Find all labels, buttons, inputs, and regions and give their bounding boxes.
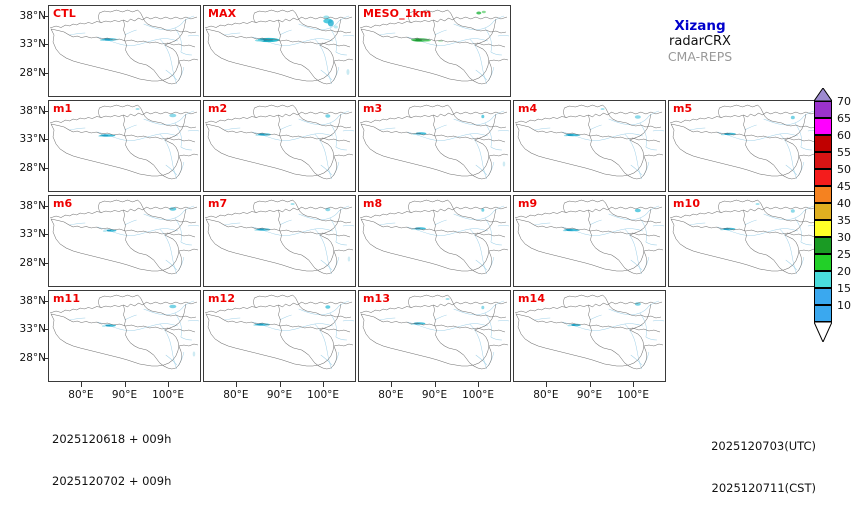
footer-right-line2: 2025120711(CST): [711, 481, 816, 495]
panel-label: m1: [53, 102, 72, 115]
panel-label: m11: [53, 292, 80, 305]
y-axis-tick-mark: [43, 16, 48, 17]
panel-label: m4: [518, 102, 537, 115]
x-axis-tick-label: 80°E: [211, 389, 261, 401]
y-axis-tick-label: 38°N: [0, 10, 46, 22]
colorbar-tick-label: 10: [837, 300, 851, 311]
colorbar-band: [814, 101, 832, 118]
y-axis-tick-mark: [43, 168, 48, 169]
x-axis-tick-mark: [478, 382, 479, 387]
map-panel-m2[interactable]: m2: [203, 100, 356, 192]
colorbar-tick-label: 25: [837, 249, 851, 260]
x-axis-tick-label: 90°E: [565, 389, 615, 401]
colorbar-band: [814, 203, 832, 220]
panel-label: m7: [208, 197, 227, 210]
y-axis-tick-label: 33°N: [0, 38, 46, 50]
x-axis-tick-mark: [125, 382, 126, 387]
footer-left: 2025120618 + 009h 2025120702 + 009h: [52, 404, 171, 516]
colorbar-tick-label: 35: [837, 215, 851, 226]
map-panel-m3[interactable]: m3: [358, 100, 511, 192]
x-axis-tick-label: 100°E: [143, 389, 193, 401]
x-axis-tick-mark: [280, 382, 281, 387]
y-axis-tick-label: 33°N: [0, 228, 46, 240]
x-axis-tick-label: 100°E: [608, 389, 658, 401]
x-axis-tick-mark: [633, 382, 634, 387]
panel-label: MESO_1km: [363, 7, 431, 20]
colorbar-tick-label: 70: [837, 96, 851, 107]
colorbar-band: [814, 118, 832, 135]
colorbar-band: [814, 220, 832, 237]
y-axis-tick-label: 28°N: [0, 67, 46, 79]
panel-label: m14: [518, 292, 545, 305]
variable-title: radarCRX: [605, 34, 795, 49]
colorbar-tick-label: 20: [837, 266, 851, 277]
x-axis-tick-label: 100°E: [453, 389, 503, 401]
colorbar-tick-label: 50: [837, 164, 851, 175]
panel-label: MAX: [208, 7, 236, 20]
panel-label: m10: [673, 197, 700, 210]
panel-label: m13: [363, 292, 390, 305]
map-panel-m14[interactable]: m14: [513, 290, 666, 382]
x-axis-tick-label: 90°E: [410, 389, 460, 401]
colorbar-band: [814, 135, 832, 152]
x-axis-tick-label: 90°E: [100, 389, 150, 401]
panel-label: m6: [53, 197, 72, 210]
y-axis-tick-mark: [43, 234, 48, 235]
footer-left-line2: 2025120702 + 009h: [52, 474, 171, 488]
map-panel-m9[interactable]: m9: [513, 195, 666, 287]
x-axis-tick-mark: [168, 382, 169, 387]
x-axis-tick-mark: [81, 382, 82, 387]
y-axis-tick-label: 28°N: [0, 352, 46, 364]
y-axis-tick-label: 33°N: [0, 323, 46, 335]
y-axis-tick-mark: [43, 301, 48, 302]
system-title: CMA-REPS: [605, 49, 795, 64]
map-panel-m4[interactable]: m4: [513, 100, 666, 192]
panel-label: m8: [363, 197, 382, 210]
footer-right: 2025120703(UTC) 2025120711(CST): [711, 411, 816, 523]
x-axis-tick-label: 80°E: [56, 389, 106, 401]
colorbar-band: [814, 305, 832, 322]
colorbar-tick-label: 55: [837, 147, 851, 158]
colorbar-over-arrow: [814, 88, 832, 101]
y-axis-tick-mark: [43, 73, 48, 74]
map-panel-m7[interactable]: m7: [203, 195, 356, 287]
map-panel-ctl[interactable]: CTL: [48, 5, 201, 97]
footer-right-line1: 2025120703(UTC): [711, 439, 816, 453]
x-axis-tick-mark: [323, 382, 324, 387]
panel-label: m12: [208, 292, 235, 305]
colorbar-band: [814, 271, 832, 288]
x-axis-tick-label: 90°E: [255, 389, 305, 401]
figure-root: CTL MAX: [0, 0, 860, 450]
colorbar-tick-label: 60: [837, 130, 851, 141]
panel-label: CTL: [53, 7, 76, 20]
y-axis-tick-mark: [43, 358, 48, 359]
colorbar-tick-label: 15: [837, 283, 851, 294]
y-axis-tick-mark: [43, 111, 48, 112]
region-title: Xizang: [605, 18, 795, 34]
colorbar-band: [814, 254, 832, 271]
y-axis-tick-mark: [43, 44, 48, 45]
colorbar-tick-label: 40: [837, 198, 851, 209]
y-axis-tick-label: 38°N: [0, 200, 46, 212]
x-axis-tick-label: 80°E: [521, 389, 571, 401]
colorbar-tick-label: 30: [837, 232, 851, 243]
map-panel-meso_1km[interactable]: MESO_1km: [358, 5, 511, 97]
footer-left-line1: 2025120618 + 009h: [52, 432, 171, 446]
x-axis-tick-label: 100°E: [298, 389, 348, 401]
y-axis-tick-label: 38°N: [0, 105, 46, 117]
panel-label: m2: [208, 102, 227, 115]
colorbar-band: [814, 186, 832, 203]
colorbar-band: [814, 288, 832, 305]
map-panel-m5[interactable]: m5: [668, 100, 821, 192]
map-panel-m10[interactable]: m10: [668, 195, 821, 287]
panel-label: m5: [673, 102, 692, 115]
y-axis-tick-mark: [43, 139, 48, 140]
colorbar-under-arrow: [814, 322, 832, 342]
colorbar: 70656055504540353025201510: [814, 88, 860, 338]
colorbar-band: [814, 152, 832, 169]
map-panel-m1[interactable]: m1: [48, 100, 201, 192]
y-axis-tick-label: 33°N: [0, 133, 46, 145]
colorbar-tick-label: 45: [837, 181, 851, 192]
panel-label: m3: [363, 102, 382, 115]
map-panel-m8[interactable]: m8: [358, 195, 511, 287]
x-axis-tick-mark: [590, 382, 591, 387]
y-axis-tick-mark: [43, 206, 48, 207]
y-axis-tick-mark: [43, 263, 48, 264]
x-axis-tick-mark: [546, 382, 547, 387]
x-axis-tick-mark: [435, 382, 436, 387]
y-axis-tick-label: 38°N: [0, 295, 46, 307]
y-axis-tick-label: 28°N: [0, 162, 46, 174]
map-panel-m11[interactable]: m11: [48, 290, 201, 382]
colorbar-tick-label: 65: [837, 113, 851, 124]
colorbar-band: [814, 169, 832, 186]
map-panel-max[interactable]: MAX: [203, 5, 356, 97]
x-axis-tick-mark: [236, 382, 237, 387]
map-panel-m12[interactable]: m12: [203, 290, 356, 382]
y-axis-tick-mark: [43, 329, 48, 330]
x-axis-tick-mark: [391, 382, 392, 387]
map-panel-m6[interactable]: m6: [48, 195, 201, 287]
panel-label: m9: [518, 197, 537, 210]
x-axis-tick-label: 80°E: [366, 389, 416, 401]
y-axis-tick-label: 28°N: [0, 257, 46, 269]
header-block: Xizang radarCRX CMA-REPS: [605, 18, 795, 64]
colorbar-band: [814, 237, 832, 254]
map-panel-m13[interactable]: m13: [358, 290, 511, 382]
